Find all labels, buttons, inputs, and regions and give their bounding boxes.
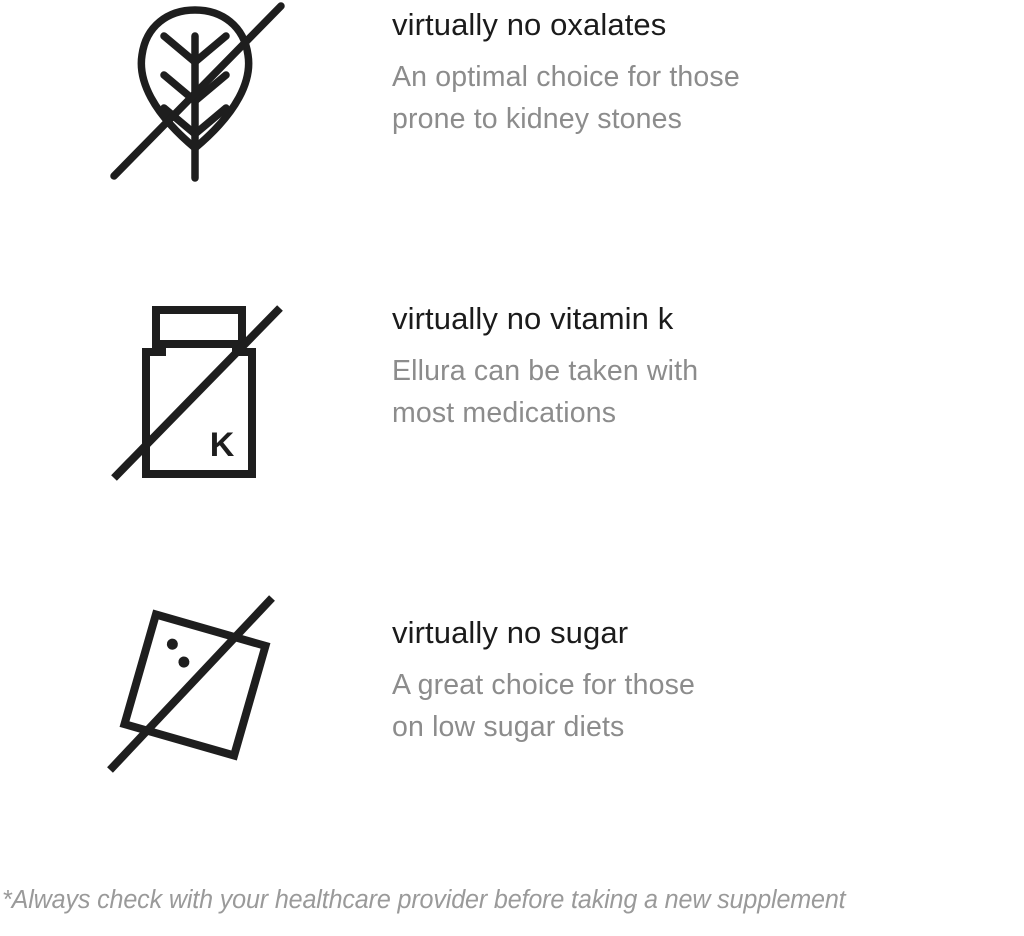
feature-row-sugar: virtually no sugar A great choice for th… (0, 588, 1024, 780)
feature-description-line-1: Ellura can be taken with (392, 351, 1024, 392)
disclaimer-footnote: *Always check with your healthcare provi… (2, 886, 1009, 915)
feature-title: virtually no vitamin k (392, 302, 1024, 335)
feature-description-line-2: prone to kidney stones (392, 99, 1024, 140)
sugar-grain-dot (166, 637, 180, 651)
no-sugar-cube-icon (100, 590, 290, 780)
feature-description-line-2: on low sugar diets (392, 707, 1024, 748)
feature-title: virtually no oxalates (392, 8, 1024, 41)
no-vitamin-k-bottle-icon: K (100, 300, 290, 490)
feature-text-sugar: virtually no sugar A great choice for th… (390, 588, 1024, 748)
no-leaf-icon (100, 0, 290, 190)
feature-description: An optimal choice for those prone to kid… (392, 57, 1024, 140)
feature-description: Ellura can be taken with most medication… (392, 351, 1024, 434)
no-vitamin-k-bottle-icon-cell: K (0, 292, 390, 490)
no-leaf-icon-cell (0, 0, 390, 190)
feature-text-oxalates: virtually no oxalates An optimal choice … (390, 0, 1024, 140)
sugar-grain-dot (177, 655, 191, 669)
benefits-panel: virtually no oxalates An optimal choice … (0, 0, 1024, 936)
feature-row-vitamin-k: K virtually no vitamin k Ellura can be t… (0, 292, 1024, 490)
feature-title: virtually no sugar (392, 616, 1024, 649)
feature-description-line-2: most medications (392, 393, 1024, 434)
feature-description-line-1: An optimal choice for those (392, 57, 1024, 98)
bottle-letter-k: K (210, 426, 235, 464)
feature-description-line-1: A great choice for those (392, 665, 1024, 706)
feature-row-oxalates: virtually no oxalates An optimal choice … (0, 0, 1024, 190)
feature-description: A great choice for those on low sugar di… (392, 665, 1024, 748)
feature-text-vitamin-k: virtually no vitamin k Ellura can be tak… (390, 292, 1024, 434)
no-sugar-cube-icon-cell (0, 588, 390, 780)
